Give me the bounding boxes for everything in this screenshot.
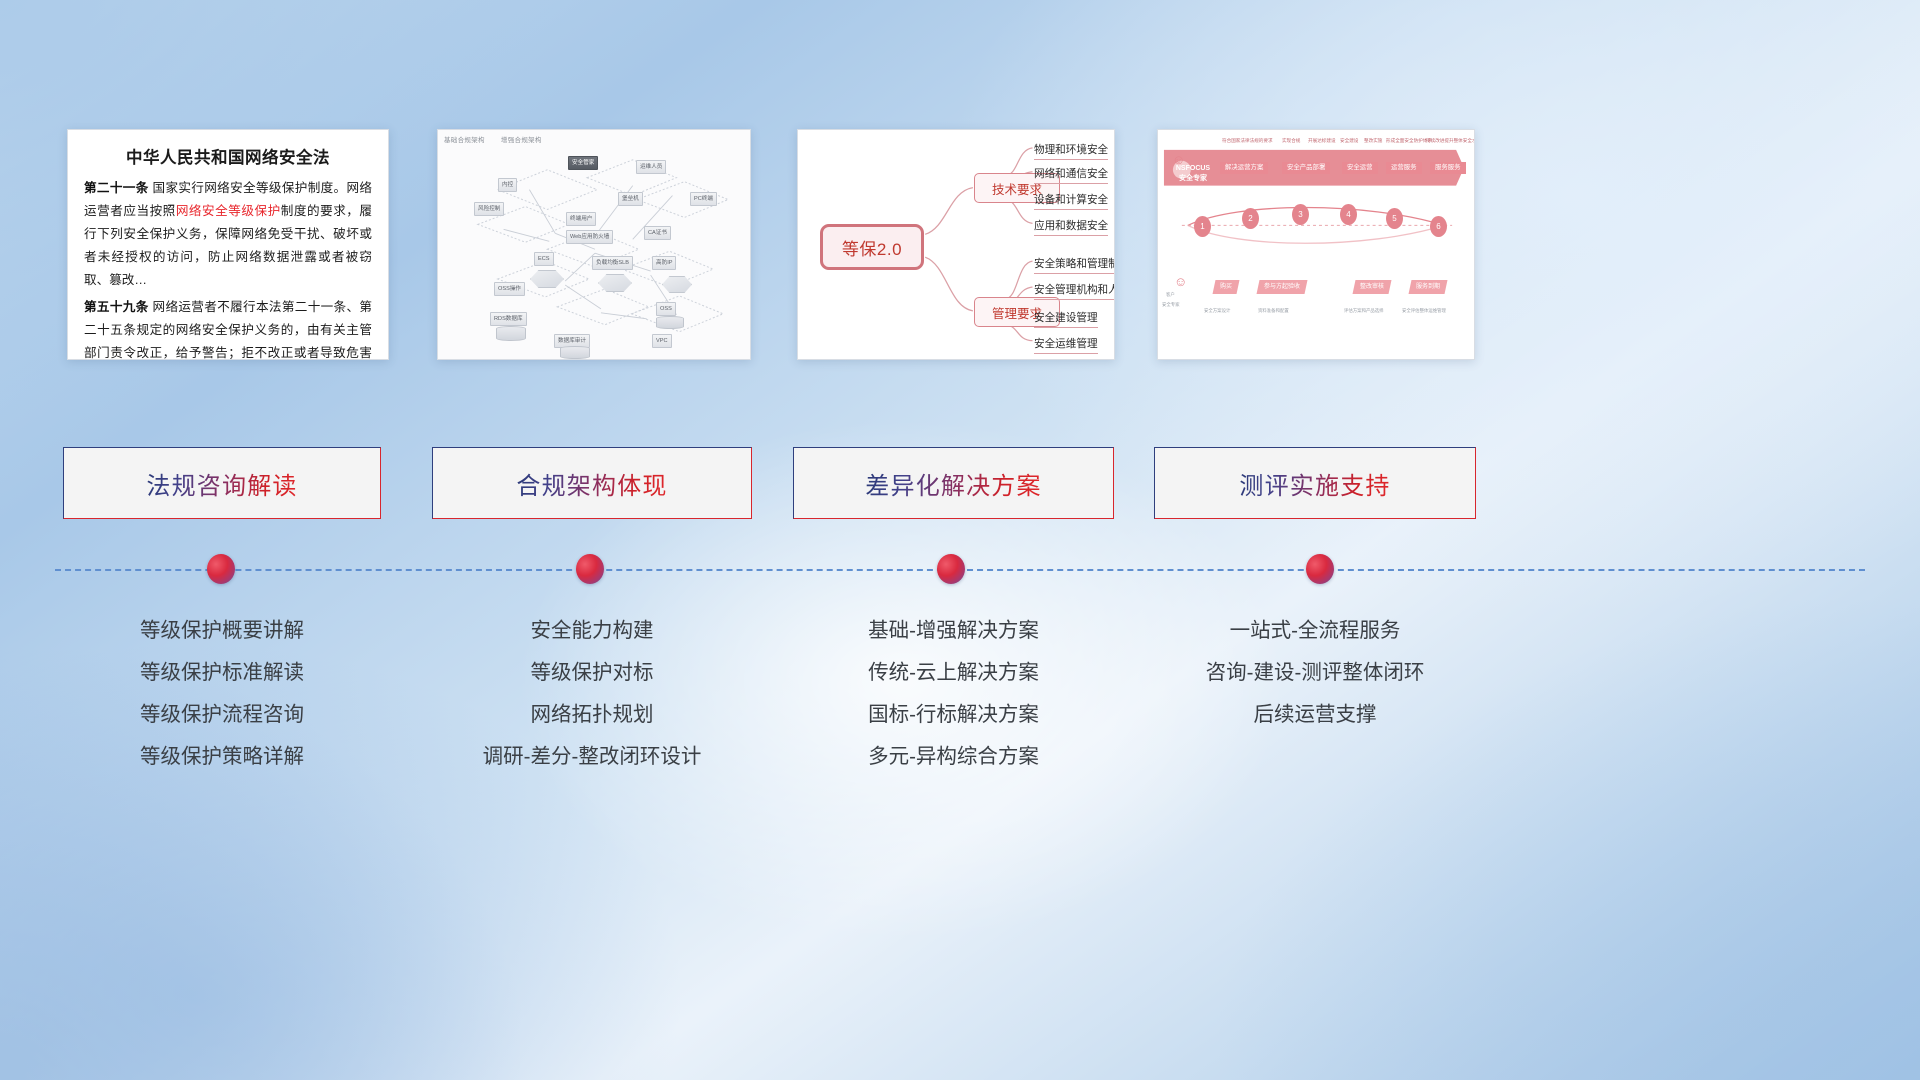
- timeline-tag-purchase: 购买: [1213, 280, 1240, 294]
- arch-shape-db-3: [656, 316, 684, 329]
- arch-node-end-user: 终端用户: [566, 212, 596, 226]
- timeline-tag-acceptance-label: 参与方起验收: [1264, 283, 1300, 291]
- arch-node-ca-cert: CA证书: [644, 226, 671, 240]
- law-article-21: 第二十一条 国家实行网络安全等级保护制度。网络运营者应当按照网络安全等级保护制度…: [84, 177, 372, 292]
- arch-node-slb: 负载均衡SLB: [592, 256, 633, 270]
- arch-node-oss-ops: OSS操作: [494, 282, 525, 296]
- banner-label-2: 合规架构体现: [516, 466, 667, 501]
- mindmap-leaf-network: 网络和通信安全: [1034, 166, 1108, 184]
- card-compliance-architecture: 基础合规架构 增强合规架构: [437, 129, 751, 360]
- timeline-tag-acceptance: 参与方起验收: [1257, 280, 1308, 294]
- card-mindmap-dengbao: 等保2.0 技术要求 管理要求 物理和环境安全 网络和通信安全 设备和计算安全 …: [797, 129, 1115, 360]
- timeline-note-1: 安全方案设计: [1204, 308, 1230, 314]
- timeline-step-1: 1: [1194, 216, 1211, 237]
- list-item: 网络拓扑规划: [432, 694, 752, 736]
- list-item: 传统-云上解决方案: [793, 652, 1114, 694]
- arch-node-ops-staff: 运维人员: [636, 160, 666, 174]
- timeline-marker-2[interactable]: [576, 554, 604, 584]
- arch-node-anti-ddos: 高防IP: [652, 256, 676, 270]
- list-item: 多元-异构综合方案: [793, 736, 1114, 778]
- arch-shape-db-1: [496, 326, 526, 341]
- timeline-note-2: 资料准备和配置: [1258, 308, 1289, 314]
- arch-shape-db-2: [560, 346, 590, 359]
- arch-node-security-butler: 安全管家: [568, 156, 598, 170]
- timeline-left-label-customer: 客户: [1166, 292, 1175, 298]
- law-article-21-highlight: 网络安全等级保护: [176, 204, 281, 218]
- architecture-nodes: 安全管家 内控 风险控制 堡垒机 终端用户 运维人员 PC终端 Web应用防火墙…: [438, 130, 750, 359]
- arch-node-waf: Web应用防火墙: [566, 230, 613, 244]
- timeline-step-3: 3: [1292, 204, 1309, 225]
- timeline-tag-purchase-label: 购买: [1220, 283, 1232, 291]
- mindmap-leaf-device: 设备和计算安全: [1034, 192, 1108, 210]
- timeline-chip-1: 解决运营方案: [1220, 162, 1268, 174]
- timeline-tag-review: 整改审核: [1353, 280, 1392, 294]
- expert-avatar-icon: ☺: [1172, 152, 1185, 167]
- list-item: 等级保护对标: [432, 652, 752, 694]
- timeline-brand-sub: 安全专家: [1172, 174, 1214, 184]
- law-article-21-label: 第二十一条: [84, 181, 149, 195]
- timeline-left-note: 安全专家: [1162, 302, 1180, 308]
- mindmap-leaf-construction: 安全建设管理: [1034, 310, 1098, 328]
- banner-label-3: 差异化解决方案: [865, 466, 1041, 501]
- arch-node-rds: RDS数据库: [490, 312, 527, 326]
- mindmap-leaf-org: 安全管理机构和人员: [1034, 282, 1115, 300]
- arch-shape-hex-2: [598, 274, 632, 292]
- banner-evaluation-support[interactable]: 测评实施支持: [1154, 447, 1476, 519]
- bullet-list-solution: 基础-增强解决方案 传统-云上解决方案 国标-行标解决方案 多元-异构综合方案: [793, 610, 1114, 778]
- timeline-chip-4: 运营服务: [1386, 162, 1422, 174]
- card-service-timeline: NSFOCUS 安全专家 符合国家法律法规的要求 实现合规 开展达标建设 安全建…: [1157, 129, 1475, 360]
- list-item: 安全能力构建: [432, 610, 752, 652]
- banner-regulation-consulting[interactable]: 法规咨询解读: [63, 447, 381, 519]
- mindmap-leaf-policy: 安全策略和管理制度: [1034, 256, 1115, 274]
- arch-node-internal-control: 内控: [498, 178, 517, 192]
- list-item: 等级保护流程咨询: [63, 694, 381, 736]
- list-item: 后续运营支撑: [1154, 694, 1476, 736]
- timeline-step-5: 5: [1386, 208, 1403, 229]
- bullet-list-evaluation: 一站式-全流程服务 咨询-建设-测评整体闭环 后续运营支撑: [1154, 610, 1476, 736]
- slide-canvas: 中华人民共和国网络安全法 第二十一条 国家实行网络安全等级保护制度。网络运营者应…: [0, 0, 1920, 1080]
- arch-node-vpc: VPC: [652, 334, 672, 348]
- arch-shape-hex-1: [530, 270, 564, 288]
- timeline-marker-4[interactable]: [1306, 554, 1334, 584]
- list-item: 国标-行标解决方案: [793, 694, 1114, 736]
- timeline-step-6: 6: [1430, 216, 1447, 237]
- law-title: 中华人民共和国网络安全法: [84, 144, 372, 168]
- list-item: 咨询-建设-测评整体闭环: [1154, 652, 1476, 694]
- timeline-tag-expiry-label: 服务到期: [1416, 283, 1440, 291]
- list-item: 等级保护策略详解: [63, 736, 381, 778]
- timeline-note-4: 安全评估整体运维管理: [1402, 308, 1446, 314]
- mindmap-root: 等保2.0: [820, 224, 924, 270]
- card-cybersecurity-law: 中华人民共和国网络安全法 第二十一条 国家实行网络安全等级保护制度。网络运营者应…: [67, 129, 389, 360]
- banner-differentiated-solution[interactable]: 差异化解决方案: [793, 447, 1114, 519]
- arch-node-pc-terminal: PC终端: [690, 192, 717, 206]
- timeline-top-label-1: 符合国家法律法规的要求: [1222, 138, 1273, 144]
- timeline-chip-3: 安全运营: [1342, 162, 1378, 174]
- arch-node-bastion: 堡垒机: [618, 192, 643, 206]
- timeline-note-3: 评估方案和产品选择: [1344, 308, 1384, 314]
- timeline-marker-1[interactable]: [207, 554, 235, 584]
- law-article-59-label: 第五十九条: [84, 300, 149, 314]
- timeline-tag-review-label: 整改审核: [1360, 283, 1384, 291]
- timeline-top-label-2: 实现合规: [1282, 138, 1300, 144]
- arch-node-oss: OSS: [656, 302, 676, 316]
- banner-compliance-architecture[interactable]: 合规架构体现: [432, 447, 752, 519]
- arch-node-risk-control: 风险控制: [474, 202, 504, 216]
- timeline-step-4: 4: [1340, 204, 1357, 225]
- list-item: 基础-增强解决方案: [793, 610, 1114, 652]
- timeline-top-label-3: 开展达标建设: [1308, 138, 1336, 144]
- bullet-list-regulation: 等级保护概要讲解 等级保护标准解读 等级保护流程咨询 等级保护策略详解: [63, 610, 381, 778]
- timeline-marker-3[interactable]: [937, 554, 965, 584]
- arch-node-ecs: ECS: [534, 252, 554, 266]
- timeline-step-2: 2: [1242, 208, 1259, 229]
- mindmap-leaf-application: 应用和数据安全: [1034, 218, 1108, 236]
- banner-label-1: 法规咨询解读: [146, 466, 297, 501]
- timeline-tag-expiry: 服务到期: [1409, 280, 1448, 294]
- mindmap-leaf-physical: 物理和环境安全: [1034, 142, 1108, 160]
- timeline-top-label-5: 整改实施: [1364, 138, 1382, 144]
- law-article-59: 第五十九条 网络运营者不履行本法第二十一条、第二十五条规定的网络安全保护义务的，…: [84, 296, 372, 360]
- customer-avatar-icon: ☺: [1174, 274, 1187, 289]
- list-item: 调研-差分-整改闭环设计: [432, 736, 752, 778]
- timeline-top-label-7: 持续改进提升整体安全水平: [1426, 138, 1475, 144]
- timeline-brand: NSFOCUS 安全专家: [1172, 164, 1214, 184]
- timeline-chip-5: 服务服务: [1430, 162, 1466, 174]
- timeline-chip-2: 安全产品部署: [1282, 162, 1330, 174]
- bullet-list-architecture: 安全能力构建 等级保护对标 网络拓扑规划 调研-差分-整改闭环设计: [432, 610, 752, 778]
- list-item: 等级保护标准解读: [63, 652, 381, 694]
- mindmap-leaf-operations: 安全运维管理: [1034, 336, 1098, 354]
- list-item: 等级保护概要讲解: [63, 610, 381, 652]
- timeline-top-label-4: 安全建设: [1340, 138, 1358, 144]
- arch-shape-hex-3: [662, 276, 692, 293]
- banner-label-4: 测评实施支持: [1239, 466, 1390, 501]
- list-item: 一站式-全流程服务: [1154, 610, 1476, 652]
